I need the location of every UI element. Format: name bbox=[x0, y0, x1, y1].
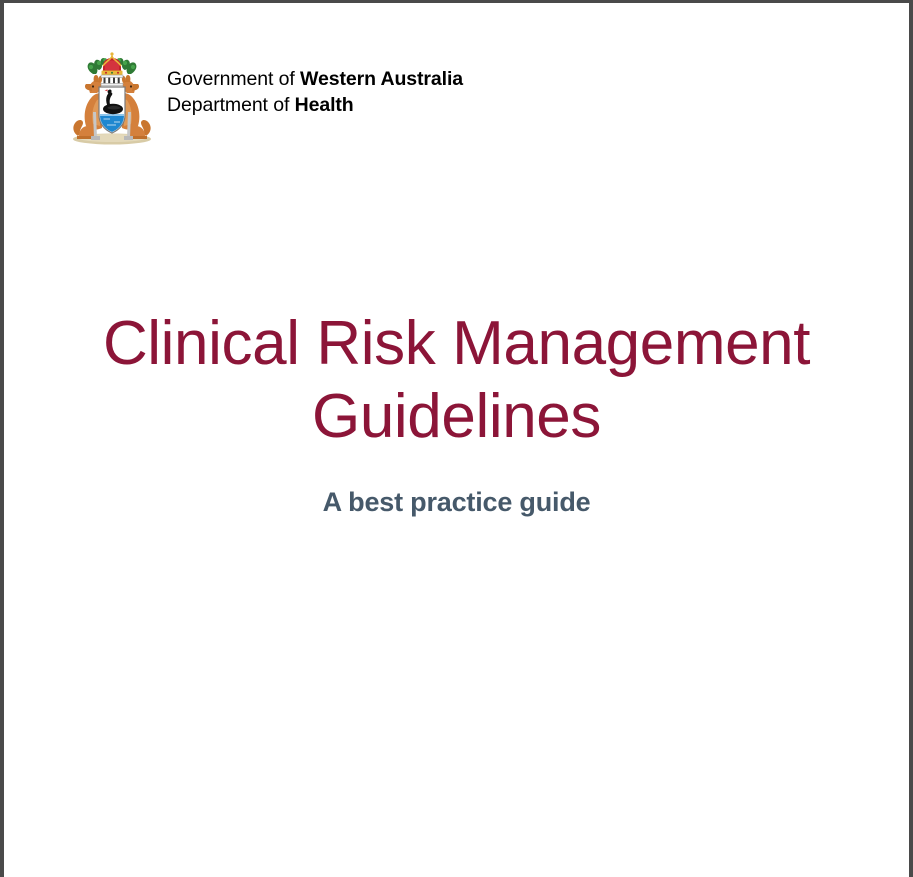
western-australia-coat-of-arms-icon bbox=[66, 52, 158, 147]
page-subtitle: A best practice guide bbox=[4, 487, 909, 518]
masthead: Government of Western Australia Departme… bbox=[66, 52, 463, 147]
masthead-text: Government of Western Australia Departme… bbox=[167, 52, 463, 118]
title-block: Clinical Risk Management Guidelines A be… bbox=[4, 308, 909, 518]
masthead-government-of: Government of bbox=[167, 68, 300, 90]
page-title: Clinical Risk Management Guidelines bbox=[4, 308, 909, 453]
masthead-line-department: Department of Health bbox=[167, 93, 463, 119]
masthead-line-government: Government of Western Australia bbox=[167, 67, 463, 93]
masthead-western-australia: Western Australia bbox=[300, 68, 463, 90]
cover-empty-area bbox=[4, 563, 909, 877]
masthead-health: Health bbox=[295, 94, 354, 116]
document-cover-page: Government of Western Australia Departme… bbox=[0, 0, 913, 877]
masthead-department-of: Department of bbox=[167, 94, 295, 116]
